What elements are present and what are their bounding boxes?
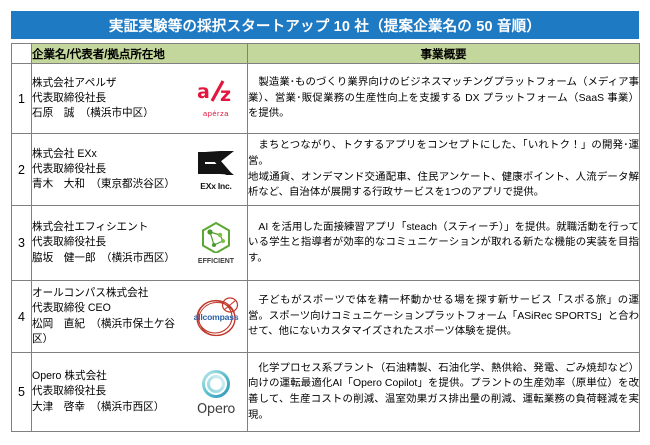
aperza-wordmark: apérza — [196, 110, 236, 118]
table-header: 企業名/代表者/拠点所在地 事業概要 — [12, 44, 640, 64]
row-number: 2 — [12, 134, 32, 206]
row-number: 1 — [12, 64, 32, 134]
table-body: 1 株式会社アペルザ 代表取締役社長 石原 誠 （横浜市中区） a z — [12, 64, 640, 432]
table-row: 2 株式会社 EXx 代表取締役社長 青木 大和 （東京都渋谷区） — [12, 134, 640, 206]
row-number: 3 — [12, 206, 32, 281]
column-header-description: 事業概要 — [248, 44, 640, 64]
allcompass-wordmark: allcompass — [184, 312, 248, 322]
company-info: 株式会社エフィシエント 代表取締役社長 脇坂 健一郎 （横浜市西区） — [32, 220, 181, 265]
company-cell: オールコンパス株式会社 代表取締役 CEO 松岡 直紀 （横浜市保土ケ谷区） — [32, 281, 248, 353]
column-header-number — [12, 44, 32, 64]
table-row: 4 オールコンパス株式会社 代表取締役 CEO 松岡 直紀 （横浜市保土ケ谷区） — [12, 281, 640, 353]
efficient-hexagon-icon — [199, 221, 233, 253]
svg-text:z: z — [220, 84, 231, 105]
business-description: まちとつながり、トクするアプリをコンセプトにした、「いれトク！」の開発･運営。 … — [248, 134, 640, 206]
exx-wordmark: EXx Inc. — [196, 182, 236, 191]
company-info: 株式会社アペルザ 代表取締役社長 石原 誠 （横浜市中区） — [32, 76, 181, 121]
aperza-mark-icon: a z — [196, 79, 236, 105]
company-logo: EFFICIENT — [185, 220, 247, 266]
document-page: 実証実験等の採択スタートアップ 10 社（提案企業名の 50 音順） 企業名/代… — [0, 11, 650, 445]
company-cell: 株式会社エフィシエント 代表取締役社長 脇坂 健一郎 （横浜市西区） — [32, 206, 248, 281]
row-number: 4 — [12, 281, 32, 353]
page-title: 実証実験等の採択スタートアップ 10 社（提案企業名の 50 音順） — [11, 11, 639, 39]
business-description: AI を活用した面接練習アプリ「steach（スティーチ）」を提供。就職活動を行… — [248, 206, 640, 281]
company-cell: 株式会社 EXx 代表取締役社長 青木 大和 （東京都渋谷区） — [32, 134, 248, 206]
company-logo: Opero — [185, 369, 247, 415]
company-cell: Opero 株式会社 代表取締役社長 大津 啓幸 （横浜市西区） — [32, 353, 248, 432]
exx-mark-icon — [196, 149, 236, 177]
company-info: オールコンパス株式会社 代表取締役 CEO 松岡 直紀 （横浜市保土ケ谷区） — [32, 286, 181, 346]
business-description: 製造業･ものづくり業界向けのビジネスマッチングプラットフォーム（メディア事業）、… — [248, 64, 640, 134]
startup-table: 企業名/代表者/拠点所在地 事業概要 1 株式会社アペルザ 代表取締役社長 石原… — [11, 43, 640, 432]
table-row: 1 株式会社アペルザ 代表取締役社長 石原 誠 （横浜市中区） a z — [12, 64, 640, 134]
company-info: Opero 株式会社 代表取締役社長 大津 啓幸 （横浜市西区） — [32, 369, 181, 414]
row-number: 5 — [12, 353, 32, 432]
business-description: 子どもがスポーツで体を精一杯動かせる場を探す新サービス「スポる旅」の運営。スポー… — [248, 281, 640, 353]
company-logo: allcompass — [185, 294, 247, 340]
company-logo: a z apérza — [185, 76, 247, 122]
opero-ring-icon — [199, 369, 233, 399]
column-header-company: 企業名/代表者/拠点所在地 — [32, 44, 248, 64]
company-logo: EXx Inc. — [185, 147, 247, 193]
efficient-wordmark: EFFICIENT — [198, 258, 234, 265]
opero-wordmark: Opero — [197, 403, 235, 416]
table-row: 5 Opero 株式会社 代表取締役社長 大津 啓幸 （横浜市西区） — [12, 353, 640, 432]
company-cell: 株式会社アペルザ 代表取締役社長 石原 誠 （横浜市中区） a z apérza — [32, 64, 248, 134]
company-info: 株式会社 EXx 代表取締役社長 青木 大和 （東京都渋谷区） — [32, 147, 181, 192]
business-description: 化学プロセス系プラント（石油精製、石油化学、熱供給、発電、ごみ焼却など）向けの運… — [248, 353, 640, 432]
svg-text:a: a — [197, 81, 210, 103]
table-row: 3 株式会社エフィシエント 代表取締役社長 脇坂 健一郎 （横浜市西区） — [12, 206, 640, 281]
